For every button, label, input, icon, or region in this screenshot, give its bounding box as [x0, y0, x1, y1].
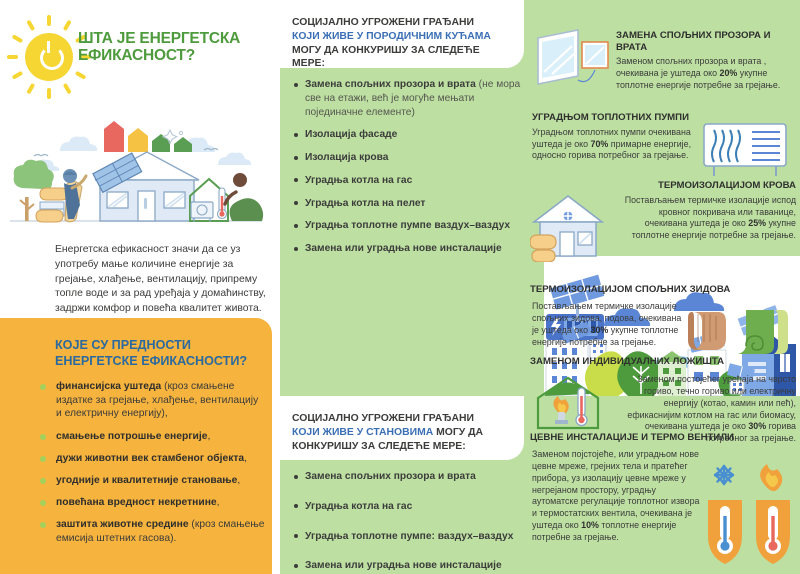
apartment-measure-item: Замена или уградња нове инсталације [292, 559, 532, 573]
savings-percent: 70% [591, 139, 609, 149]
house-energy-efficiency-illustration [0, 118, 272, 240]
measure-heat-pump-title: УГРАДЊОМ ТОПЛОТНИХ ПУМПИ [532, 112, 697, 124]
window-icon [532, 28, 612, 90]
benefit-item: заштита животне средине (кроз смањење ем… [40, 518, 265, 545]
house-measure-item-label: Замена или уградња нове инсталације [305, 243, 502, 254]
benefits-panel: КОЈЕ СУ ПРЕДНОСТИ ЕНЕРГЕТСКЕ ЕФИКАСНОСТИ… [0, 318, 272, 574]
intro-paragraph: Енергетска ефикасност значи да се уз упо… [55, 243, 270, 317]
benefit-item-note: , [237, 475, 240, 486]
benefit-item: угодније и квалитетније становање, [40, 474, 265, 488]
left-column: ШТА ЈЕ ЕНЕРГЕТСКА ЕФИКАСНОСТ? [0, 0, 280, 574]
houses-title-part2: МОГУ ДА КОНКУРИШУ ЗА СЛЕДЕЋЕ МЕРЕ: [292, 45, 480, 70]
measure-roof-title: ТЕРМОИЗОЛАЦИЈОМ КРОВА [618, 180, 796, 192]
house-measure-item-label: Уградња котла на пелет [305, 198, 425, 209]
house-measure-item: Изолација крова [292, 151, 532, 165]
house-measure-item: Уградња топлотне пумпе ваздух–ваздух [292, 219, 532, 233]
right-column: ЗАМЕНА СПОЉНИХ ПРОЗОРА И ВРАТА Заменом с… [530, 0, 800, 574]
house-measure-item-label: Изолација крова [305, 152, 388, 163]
infographic-page: ШТА ЈЕ ЕНЕРГЕТСКА ЕФИКАСНОСТ? [0, 0, 800, 574]
roof-insulation-icon [530, 190, 608, 262]
savings-percent: 30% [748, 421, 766, 431]
house-measure-item: Замена спољних прозора и врата (не мора … [292, 78, 532, 119]
measure-roof-body: Постављањем термичке изолације испод кро… [618, 195, 796, 242]
middle-column: СОЦИЈАЛНО УГРОЖЕНИ ГРАЂАНИ КОЈИ ЖИВЕ У П… [272, 0, 530, 574]
benefit-item-label: финансијска уштеда [56, 381, 161, 392]
apartments-measures-list: Замена спољних прозора и вратаУградња ко… [292, 470, 532, 574]
benefit-item-note: , [207, 431, 210, 442]
apartments-title-highlight: КОЈИ ЖИВЕ У СТАНОВИМА [292, 427, 433, 438]
house-measure-item-label: Изолација фасаде [305, 129, 397, 140]
benefits-list: финансијска уштеда (кроз смањене издатке… [40, 380, 265, 554]
benefit-item: повећана вредност некретнине, [40, 496, 265, 510]
measure-pipes-body: Заменом појстојеће, или уградњом нове це… [532, 449, 704, 544]
apartment-measure-item: Уградња топлотне пумпе: ваздух–ваздух [292, 530, 532, 544]
house-measure-item: Изолација фасаде [292, 128, 532, 142]
insulation-rolls-icon [688, 304, 796, 354]
apartment-measure-item-label: Уградња топлотне пумпе: ваздух–ваздух [305, 531, 513, 542]
house-measure-item: Замена или уградња нове инсталације [292, 242, 532, 256]
savings-percent: 30% [591, 325, 609, 335]
houses-measures-list: Замена спољних прозора и врата (не мора … [292, 78, 532, 265]
savings-percent: 25% [748, 218, 766, 228]
benefit-item: финансијска уштеда (кроз смањене издатке… [40, 380, 265, 421]
house-measure-item-label: Уградња котла на гас [305, 175, 412, 186]
benefit-item: дужи животни век стамбеног објекта, [40, 452, 265, 466]
house-measure-item-label: Замена спољних прозора и врата [305, 79, 476, 90]
heat-pump-icon [700, 120, 796, 180]
house-measure-item-label: Уградња топлотне пумпе ваздух–ваздух [305, 220, 510, 231]
apartment-measure-item-label: Замена или уградња нове инсталације [305, 560, 502, 571]
thermostat-valves-icon [706, 460, 798, 568]
savings-percent: 10% [581, 520, 599, 530]
page-title: ШТА ЈЕ ЕНЕРГЕТСКА ЕФИКАСНОСТ? [78, 30, 273, 65]
benefit-item-label: заштита животне средине [56, 519, 189, 530]
apartments-card-title: СОЦИЈАЛНО УГРОЖЕНИ ГРАЂАНИ КОЈИ ЖИВЕ У С… [272, 396, 524, 467]
benefits-title: КОЈЕ СУ ПРЕДНОСТИ ЕНЕРГЕТСКЕ ЕФИКАСНОСТИ… [55, 337, 265, 370]
measure-windows-title: ЗАМЕНА СПОЉНИХ ПРОЗОРА И ВРАТА [616, 30, 796, 53]
measure-heat-pump-body: Уградњом топлотних пумпи очекивана уштед… [532, 127, 697, 163]
houses-title-highlight: КОЈИ ЖИВЕ У ПОРОДИЧНИМ КУЋАМА [292, 31, 491, 42]
measure-furnace-title: ЗАМЕНОМ ИНДИВИДУАЛНИХ ЛОЖИШТА [530, 356, 798, 368]
house-measure-item: Уградња котла на гас [292, 174, 532, 188]
benefit-item-label: смањење потрошње енергије [56, 431, 207, 442]
apartments-title-part1: СОЦИЈАЛНО УГРОЖЕНИ ГРАЂАНИ [292, 413, 474, 424]
apartment-measure-item: Уградња котла на гас [292, 500, 532, 514]
measure-wall-body: Постављањем термичке изолације спољних з… [532, 301, 682, 348]
benefit-item-label: дужи животни век стамбеног објекта [56, 453, 244, 464]
apartment-measure-item: Замена спољних прозора и врата [292, 470, 532, 484]
apartment-measure-item-label: Уградња котла на гас [305, 501, 412, 512]
measure-windows-body: Заменом спољних прозора и врата , очекив… [616, 56, 796, 92]
houses-card-title: СОЦИЈАЛНО УГРОЖЕНИ ГРАЂАНИ КОЈИ ЖИВЕ У П… [272, 0, 524, 85]
measure-pipes-title: ЦЕВНЕ ИНСТАЛАЦИЈЕ И ТЕРМО ВЕНТИЛИ [530, 432, 798, 444]
apartments-card-header: СОЦИЈАЛНО УГРОЖЕНИ ГРАЂАНИ КОЈИ ЖИВЕ У С… [272, 396, 524, 460]
benefit-item: смањење потрошње енергије, [40, 430, 265, 444]
house-measure-item: Уградња котла на пелет [292, 197, 532, 211]
benefit-item-label: угодније и квалитетније становање [56, 475, 237, 486]
furnace-house-icon [534, 374, 610, 432]
savings-percent: 20% [720, 68, 738, 78]
benefit-item-label: повећана вредност некретнине [56, 497, 217, 508]
houses-card-header: СОЦИЈАЛНО УГРОЖЕНИ ГРАЂАНИ КОЈИ ЖИВЕ У П… [272, 0, 524, 68]
apartment-measure-item-label: Замена спољних прозора и врата [305, 471, 476, 482]
measure-wall-title: ТЕРМОИЗОЛАЦИЈОМ СПОЉНИХ ЗИДОВА [530, 284, 798, 296]
benefit-item-note: , [217, 497, 220, 508]
body-pre: Заменом појстојеће, или уградњом нове це… [532, 449, 699, 530]
benefit-item-note: , [244, 453, 247, 464]
houses-title-part1: СОЦИЈАЛНО УГРОЖЕНИ ГРАЂАНИ [292, 17, 474, 28]
